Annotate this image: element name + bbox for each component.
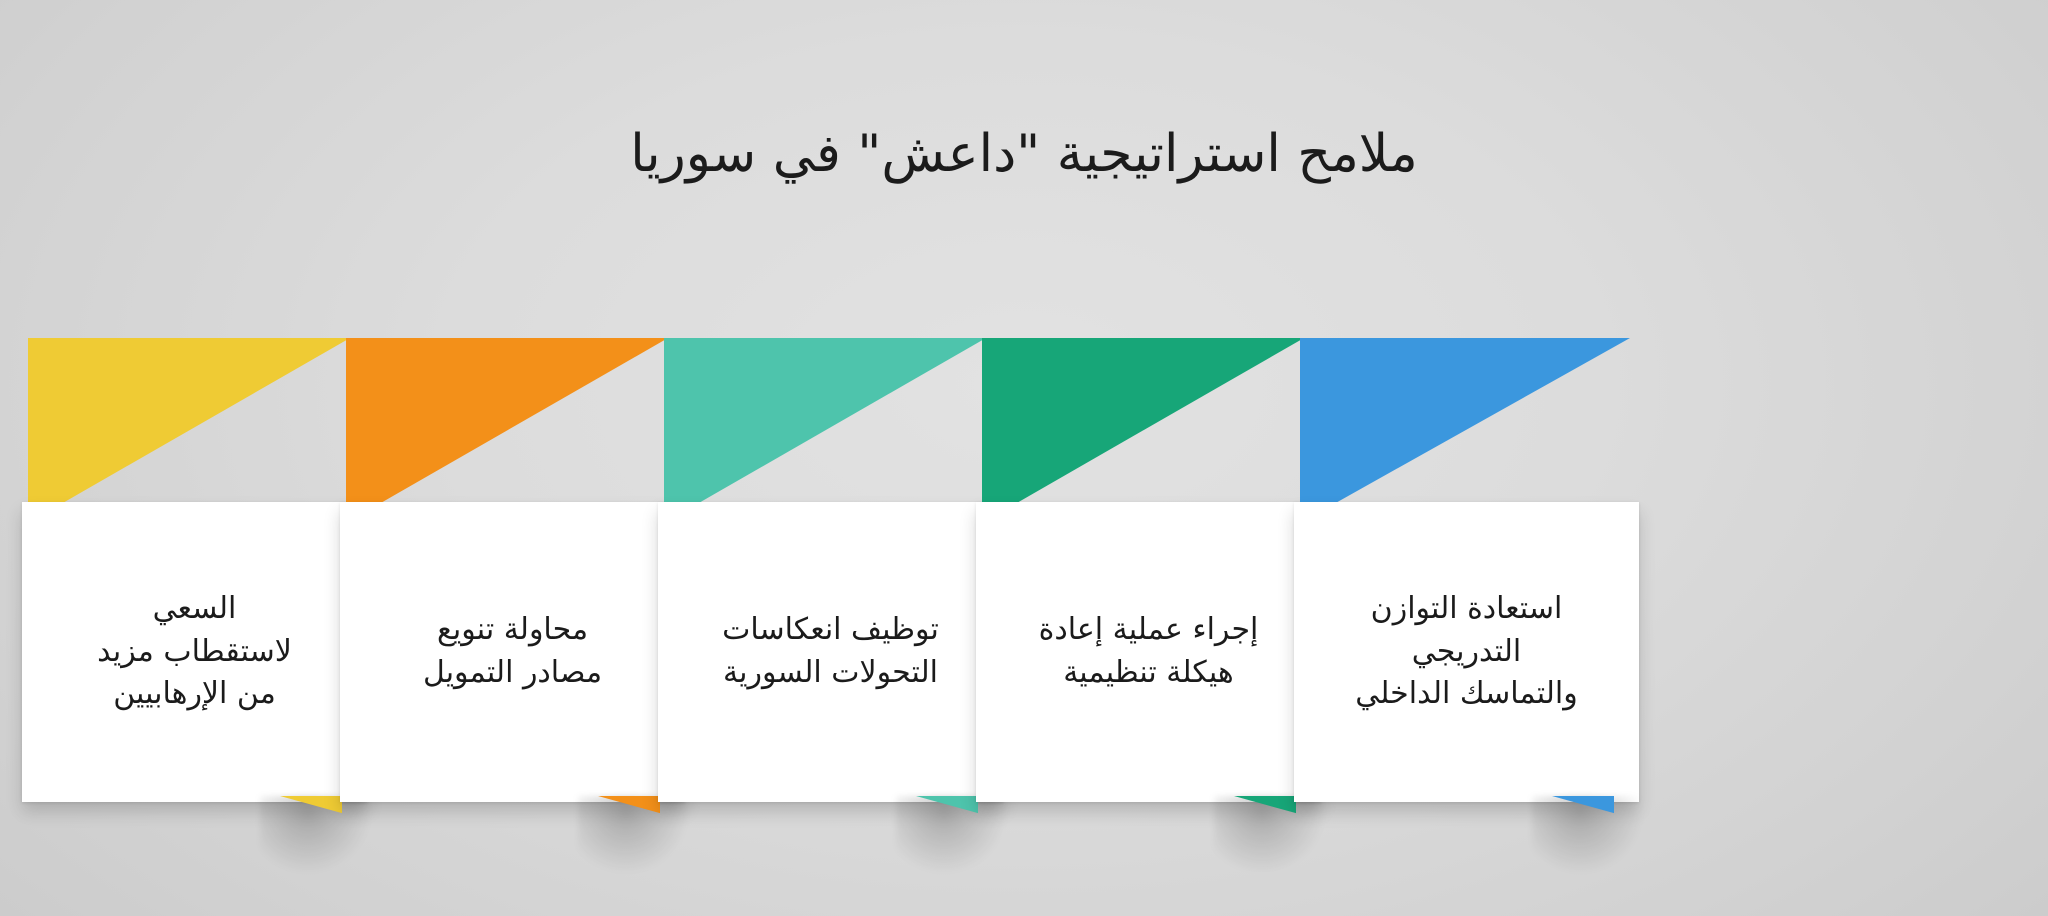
card-banner-shape: [982, 338, 1304, 523]
card-banner-shape: [1300, 338, 1630, 523]
card-banner-shape: [28, 338, 350, 523]
infographic-slide: ملامح استراتيجية "داعش" في سوريا السعيلا…: [0, 0, 2048, 916]
card-tail-shadow: [1532, 796, 1652, 882]
card-text-container: توظيف انعكاساتالتحولات السورية: [658, 502, 1003, 802]
card-internal-balance[interactable]: استعادة التوازنالتدريجيوالتماسك الداخلي: [1294, 330, 1639, 860]
card-label: استعادة التوازنالتدريجيوالتماسك الداخلي: [1337, 588, 1596, 716]
card-label: إجراء عملية إعادةهيكلة تنظيمية: [1021, 609, 1277, 694]
card-text-container: استعادة التوازنالتدريجيوالتماسك الداخلي: [1294, 502, 1639, 802]
card-banner-shape: [664, 338, 986, 523]
card-label: محاولة تنويعمصادر التمويل: [405, 609, 620, 694]
card-restructuring[interactable]: إجراء عملية إعادةهيكلة تنظيمية: [976, 330, 1321, 860]
card-text-container: السعيلاستقطاب مزيدمن الإرهابيين: [22, 502, 367, 802]
card-text-container: إجراء عملية إعادةهيكلة تنظيمية: [976, 502, 1321, 802]
cards-row: السعيلاستقطاب مزيدمن الإرهابيين محاولة ت…: [0, 330, 2048, 890]
card-text-container: محاولة تنويعمصادر التمويل: [340, 502, 685, 802]
card-recruitment[interactable]: السعيلاستقطاب مزيدمن الإرهابيين: [22, 330, 367, 860]
card-syrian-shifts[interactable]: توظيف انعكاساتالتحولات السورية: [658, 330, 1003, 860]
card-funding[interactable]: محاولة تنويعمصادر التمويل: [340, 330, 685, 860]
title-container: ملامح استراتيجية "داعش" في سوريا: [0, 88, 2048, 220]
page-title: ملامح استراتيجية "داعش" في سوريا: [630, 123, 1417, 185]
card-banner-shape: [346, 338, 668, 523]
card-label: توظيف انعكاساتالتحولات السورية: [704, 609, 957, 694]
card-label: السعيلاستقطاب مزيدمن الإرهابيين: [79, 588, 310, 716]
